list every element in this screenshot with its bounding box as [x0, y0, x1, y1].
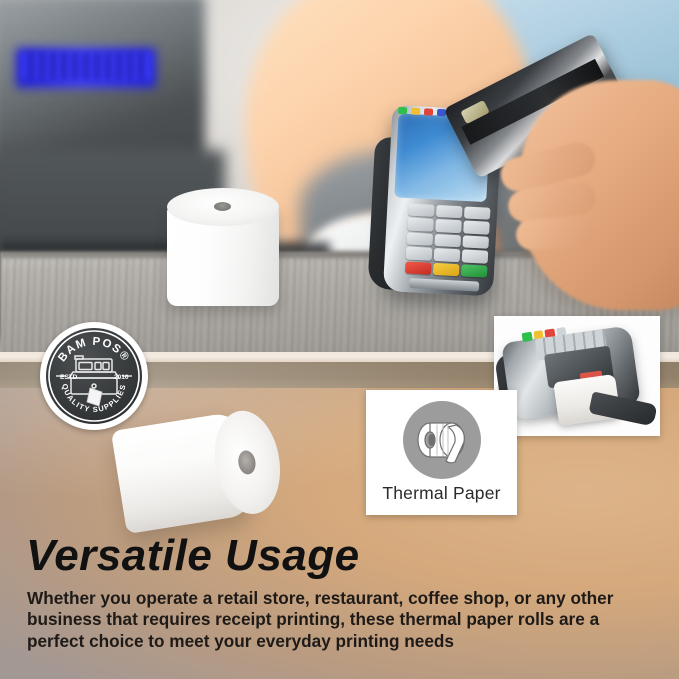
cash-register-icon: BAM POS® QUALITY SUPPLIES ESTD 2010	[46, 328, 142, 424]
hero-photo-cafe-pos-payment	[0, 0, 679, 358]
paper-roll-icon	[403, 401, 481, 479]
pos-terminal-keypad	[405, 204, 491, 278]
fn-key-green-icon	[522, 332, 533, 342]
thermal-paper-label: Thermal Paper	[382, 483, 500, 504]
roll-core-hole	[214, 202, 231, 211]
led-green-icon	[398, 107, 407, 114]
description-paragraph: Whether you operate a retail store, rest…	[27, 588, 655, 652]
badge-year-text: 2010	[114, 374, 129, 381]
pos-terminal-inset-card	[494, 316, 660, 436]
blue-led-display	[22, 52, 150, 80]
brand-logo-badge: BAM POS® QUALITY SUPPLIES ESTD 2010	[40, 322, 148, 430]
customer-finger	[515, 215, 595, 250]
thermal-paper-inset-card: Thermal Paper	[366, 390, 517, 515]
badge-estd-text: ESTD	[60, 374, 78, 381]
page-title: Versatile Usage	[26, 531, 360, 581]
product-marketing-image: BAM POS® QUALITY SUPPLIES ESTD 2010	[0, 0, 679, 679]
thermal-paper-roll-on-counter	[167, 188, 279, 306]
led-yellow-icon	[411, 108, 420, 115]
led-red-icon	[424, 108, 433, 115]
badge-inner-disc: BAM POS® QUALITY SUPPLIES ESTD 2010	[46, 328, 142, 424]
